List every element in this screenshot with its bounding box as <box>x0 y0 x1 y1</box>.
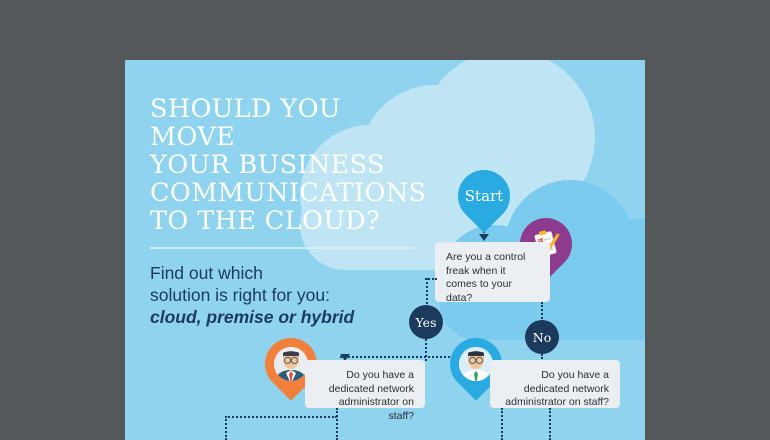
start-label: Start <box>465 187 503 205</box>
question-box-control-freak: Are you a control freak when it comes to… <box>435 242 550 302</box>
connector-left-out-h <box>225 416 337 418</box>
question-box-admin-right: Do you have a dedicated network administ… <box>490 360 620 408</box>
connector-question-left-h <box>425 278 437 280</box>
title-divider <box>150 247 415 249</box>
subtitle-block: Find out which solution is right for you… <box>150 262 420 328</box>
subtitle-line-2: solution is right for you: <box>150 284 420 306</box>
decision-badge-yes[interactable]: Yes <box>409 305 443 339</box>
arrowhead-start <box>479 234 489 241</box>
connector-question-right-down <box>541 302 543 322</box>
start-pin[interactable]: Start <box>447 159 521 233</box>
decision-badge-no-label: No <box>533 330 551 345</box>
connector-question-left-down <box>426 278 428 308</box>
subtitle-line-3: cloud, premise or hybrid <box>150 306 420 328</box>
connector-left-out-v2 <box>336 408 338 440</box>
decision-badge-yes-label: Yes <box>416 315 437 330</box>
infographic-panel: SHOULD YOU MOVE YOUR BUSINESS COMMUNICAT… <box>125 60 645 440</box>
question-box-admin-left: Do you have a dedicated network administ… <box>305 360 425 408</box>
connector-right-out-v1 <box>501 408 503 440</box>
page-title: SHOULD YOU MOVE YOUR BUSINESS COMMUNICAT… <box>150 95 420 235</box>
connector-right-out-v2 <box>549 408 551 440</box>
screenshot-canvas: SHOULD YOU MOVE YOUR BUSINESS COMMUNICAT… <box>0 0 770 440</box>
decision-badge-no[interactable]: No <box>525 320 559 354</box>
connector-left-out-v1 <box>225 416 227 440</box>
headline-block: SHOULD YOU MOVE YOUR BUSINESS COMMUNICAT… <box>150 95 420 328</box>
subtitle-line-1: Find out which <box>150 262 420 284</box>
